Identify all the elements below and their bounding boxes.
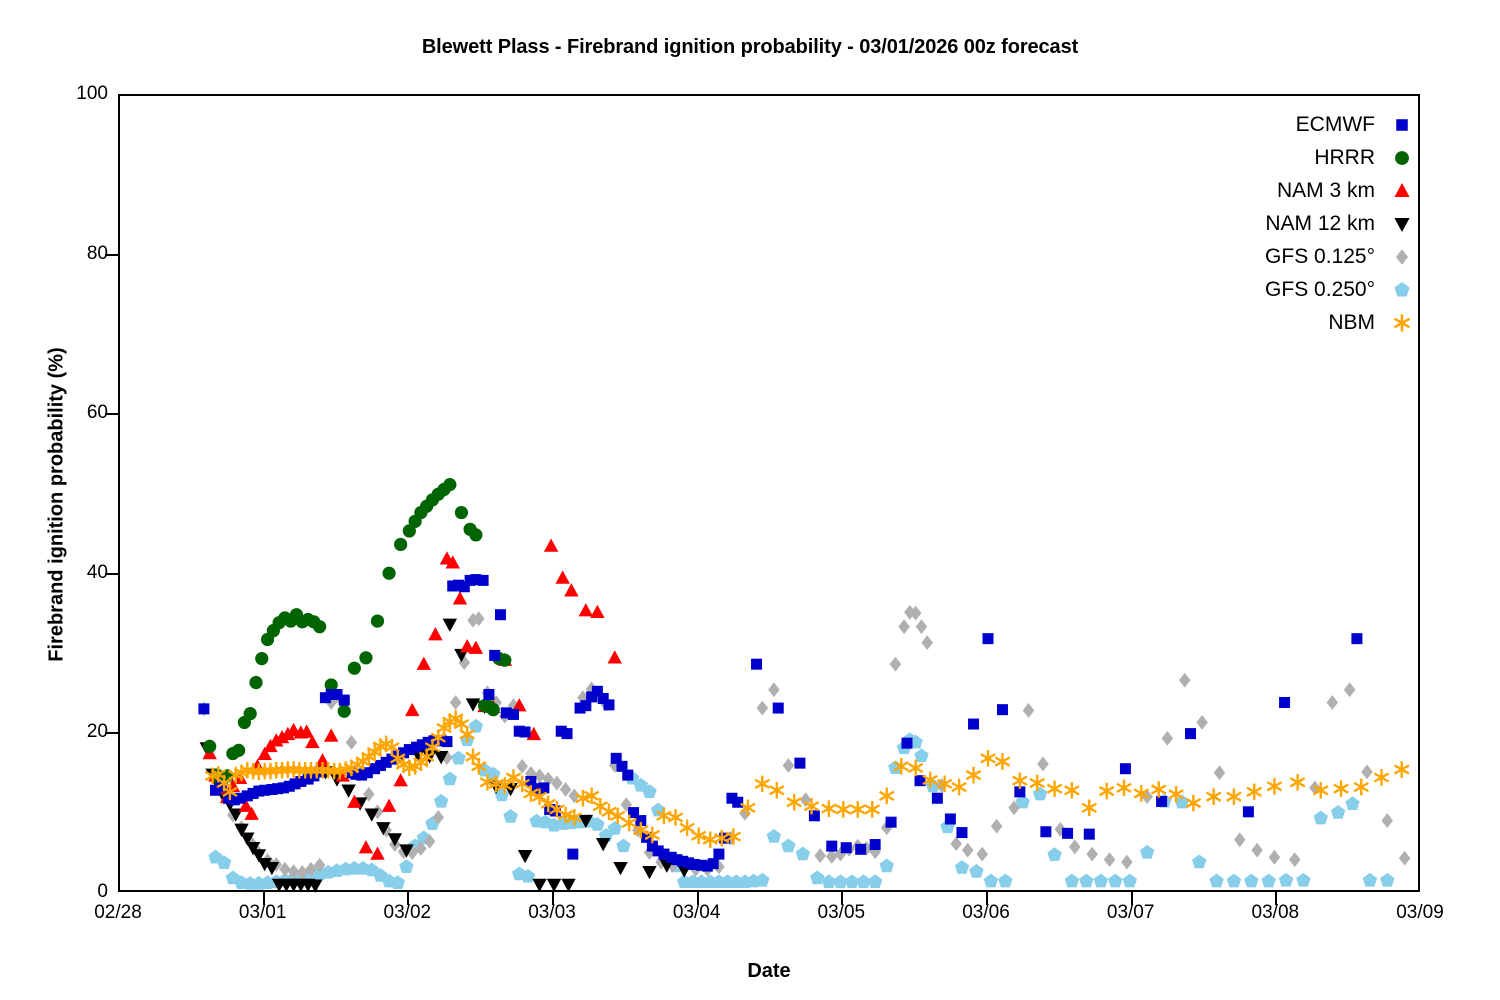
data-point	[516, 759, 528, 774]
data-point	[822, 800, 836, 816]
data-point	[1351, 633, 1362, 644]
legend-label: NAM 12 km	[1265, 212, 1389, 236]
data-point	[359, 651, 372, 664]
data-point	[814, 848, 826, 863]
data-point	[1192, 854, 1206, 868]
data-point	[417, 657, 431, 670]
y-tick-label: 20	[18, 721, 108, 743]
data-point	[1196, 715, 1208, 730]
data-point	[1065, 874, 1079, 888]
x-tick-label: 03/02	[347, 902, 467, 924]
chart-page: Blewett Plass - Firebrand ignition proba…	[0, 0, 1500, 1000]
data-point	[642, 866, 656, 879]
data-point	[956, 827, 967, 838]
legend-item-nam-12-km[interactable]: NAM 12 km	[1150, 207, 1415, 240]
data-point	[787, 794, 801, 810]
data-point	[339, 695, 350, 706]
x-tick-label: 02/28	[58, 902, 178, 924]
data-point	[1186, 795, 1200, 811]
data-point	[810, 870, 824, 884]
y-tick-label: 80	[18, 243, 108, 265]
data-point	[1185, 728, 1196, 739]
circle-marker-icon	[1389, 145, 1415, 171]
y-tick-mark	[105, 254, 118, 256]
legend-item-gfs-0-125[interactable]: GFS 0.125°	[1150, 240, 1415, 273]
data-point	[341, 785, 355, 798]
data-point	[608, 821, 622, 835]
data-point	[532, 879, 546, 892]
data-point	[1123, 874, 1137, 888]
data-point	[1179, 673, 1191, 688]
data-point	[1279, 873, 1293, 887]
data-point	[995, 753, 1009, 769]
data-point	[394, 538, 407, 551]
data-point	[1037, 757, 1049, 772]
data-point	[503, 809, 517, 823]
x-tick-label: 03/06	[926, 902, 1046, 924]
y-tick-label: 60	[18, 402, 108, 424]
data-point	[1261, 874, 1275, 888]
data-point	[1344, 682, 1356, 697]
data-point	[1033, 787, 1047, 801]
data-point	[1140, 845, 1154, 859]
data-point	[489, 650, 500, 661]
data-point	[255, 652, 268, 665]
data-point	[1290, 774, 1304, 790]
data-point	[382, 799, 396, 812]
data-point	[590, 605, 604, 618]
y-axis-label: Firebrand ignition probability (%)	[46, 225, 69, 785]
data-point	[434, 794, 448, 808]
legend-item-nam-3-km[interactable]: NAM 3 km	[1150, 174, 1415, 207]
data-point	[909, 760, 923, 776]
data-point	[708, 858, 719, 869]
data-point	[886, 817, 897, 828]
data-point	[901, 738, 912, 749]
data-point	[203, 740, 216, 753]
data-point	[324, 728, 338, 741]
data-point	[976, 847, 988, 862]
data-point	[1023, 703, 1035, 718]
data-point	[348, 662, 361, 675]
data-point	[487, 703, 500, 716]
x-tick-label: 03/09	[1360, 902, 1480, 924]
data-point	[1086, 847, 1098, 862]
data-point	[1380, 873, 1394, 887]
data-point	[968, 719, 979, 730]
data-point	[1296, 873, 1310, 887]
legend-item-nbm[interactable]: NBM	[1150, 306, 1415, 339]
data-point	[428, 627, 442, 640]
asterisk-marker-icon	[1389, 310, 1415, 336]
data-point	[1331, 805, 1345, 819]
data-point	[783, 758, 795, 773]
data-point	[945, 813, 956, 824]
data-point	[1108, 874, 1122, 888]
data-point	[371, 614, 384, 627]
data-point	[1100, 783, 1114, 799]
data-point	[1047, 847, 1061, 861]
data-point	[313, 620, 326, 633]
diamond-marker-icon	[1389, 244, 1415, 270]
data-point	[880, 858, 894, 872]
data-point	[890, 657, 902, 672]
data-point	[562, 728, 573, 739]
data-point	[1227, 874, 1241, 888]
data-point	[1247, 784, 1261, 800]
data-point	[768, 682, 780, 697]
data-point	[1361, 765, 1373, 780]
data-point	[495, 609, 506, 620]
data-point	[593, 798, 607, 814]
data-point	[962, 843, 974, 858]
y-tick-label: 40	[18, 562, 108, 584]
data-point	[616, 839, 630, 853]
data-point	[508, 709, 519, 720]
legend-label: ECMWF	[1296, 113, 1389, 137]
x-tick-label: 03/03	[492, 902, 612, 924]
data-point	[443, 478, 456, 491]
legend-label: GFS 0.250°	[1265, 278, 1389, 302]
data-point	[1117, 780, 1131, 796]
data-point	[603, 699, 614, 710]
data-point	[757, 701, 769, 716]
y-tick-label: 0	[18, 881, 108, 903]
data-point	[469, 528, 482, 541]
data-point	[966, 767, 980, 783]
chart-legend: ECMWFHRRRNAM 3 kmNAM 12 kmGFS 0.125°GFS …	[1150, 108, 1415, 339]
data-point	[596, 838, 610, 851]
x-tick-label: 03/04	[637, 902, 757, 924]
triangle-down-marker-icon	[1389, 211, 1415, 237]
data-point	[1269, 850, 1281, 865]
data-point	[1395, 761, 1409, 777]
data-point	[770, 782, 784, 798]
y-tick-mark	[105, 732, 118, 734]
legend-item-ecmwf[interactable]: ECMWF	[1150, 108, 1415, 141]
data-point	[713, 849, 724, 860]
data-point	[579, 603, 593, 616]
data-point	[1382, 813, 1394, 828]
data-point	[338, 705, 351, 718]
data-point	[1209, 874, 1223, 888]
data-point	[773, 703, 784, 714]
data-point	[455, 506, 468, 519]
data-point	[249, 676, 262, 689]
data-point	[998, 874, 1012, 888]
data-point	[732, 797, 743, 808]
data-point	[555, 570, 569, 583]
data-point	[1084, 829, 1095, 840]
data-point	[346, 735, 358, 750]
data-point	[1234, 832, 1246, 847]
legend-item-hrrr[interactable]: HRRR	[1150, 141, 1415, 174]
data-point	[984, 874, 998, 888]
data-point	[547, 879, 561, 892]
data-point	[382, 567, 395, 580]
square-marker-icon	[1389, 112, 1415, 138]
data-point	[751, 659, 762, 670]
data-point	[622, 770, 633, 781]
x-tick-label: 03/01	[203, 902, 323, 924]
data-point	[950, 836, 962, 851]
data-point	[796, 847, 810, 861]
data-point	[469, 719, 483, 733]
data-point	[991, 819, 1003, 834]
data-point	[1251, 843, 1263, 858]
x-tick-label: 03/08	[1215, 902, 1335, 924]
data-point	[1104, 852, 1116, 867]
y-tick-mark	[105, 413, 118, 415]
data-point	[1079, 874, 1093, 888]
data-point	[244, 707, 257, 720]
legend-label: NBM	[1328, 311, 1389, 335]
data-point	[1279, 697, 1290, 708]
data-point	[916, 619, 928, 634]
data-point	[443, 619, 457, 632]
data-point	[841, 842, 852, 853]
data-point	[453, 591, 467, 604]
data-point	[1289, 852, 1301, 867]
data-point	[478, 575, 489, 586]
data-point	[567, 849, 578, 860]
data-point	[1214, 765, 1226, 780]
data-point	[1094, 874, 1108, 888]
legend-item-gfs-0-250[interactable]: GFS 0.250°	[1150, 273, 1415, 306]
data-point	[865, 801, 879, 817]
data-point	[1047, 780, 1061, 796]
data-point	[1040, 826, 1051, 837]
data-point	[483, 689, 494, 700]
data-point	[755, 776, 769, 792]
data-point	[1162, 731, 1174, 746]
data-point	[1399, 851, 1411, 866]
data-point	[921, 635, 933, 650]
data-point	[232, 744, 245, 757]
data-point	[868, 874, 882, 888]
data-point	[1227, 788, 1241, 804]
data-point	[1121, 855, 1133, 870]
legend-label: NAM 3 km	[1277, 179, 1389, 203]
data-point	[1207, 788, 1221, 804]
data-point	[443, 771, 457, 785]
data-point	[1069, 840, 1081, 855]
data-point	[518, 850, 532, 863]
data-point	[932, 793, 943, 804]
data-point	[520, 727, 531, 738]
data-point	[851, 801, 865, 817]
data-point	[1345, 796, 1359, 810]
x-axis-label: Date	[118, 960, 1420, 983]
data-point	[1065, 782, 1079, 798]
data-point	[898, 619, 910, 634]
page-title: Blewett Plass - Firebrand ignition proba…	[0, 36, 1500, 59]
y-tick-mark	[105, 573, 118, 575]
data-point	[1374, 769, 1388, 785]
data-point	[564, 583, 578, 596]
data-point	[608, 650, 622, 663]
y-tick-label: 100	[18, 83, 108, 105]
data-point	[836, 801, 850, 817]
data-point	[870, 839, 881, 850]
data-point	[1062, 828, 1073, 839]
data-point	[826, 841, 837, 852]
data-point	[198, 703, 209, 714]
x-tick-label: 03/05	[781, 902, 901, 924]
triangle-up-marker-icon	[1389, 178, 1415, 204]
data-point	[794, 758, 805, 769]
data-point	[498, 654, 511, 667]
data-point	[767, 829, 781, 843]
x-tick-label: 03/07	[1071, 902, 1191, 924]
data-point	[1354, 779, 1368, 795]
data-point	[1243, 806, 1254, 817]
data-point	[399, 859, 413, 873]
data-point	[1334, 780, 1348, 796]
data-point	[983, 633, 994, 644]
data-point	[952, 779, 966, 795]
data-point	[359, 840, 373, 853]
data-point	[955, 860, 969, 874]
data-point	[1327, 695, 1339, 710]
data-point	[1363, 873, 1377, 887]
data-point	[1267, 778, 1281, 794]
data-point	[1082, 800, 1096, 816]
data-point	[561, 879, 575, 892]
data-point	[755, 873, 769, 887]
pentagon-marker-icon	[1389, 277, 1415, 303]
data-point	[855, 844, 866, 855]
legend-label: HRRR	[1314, 146, 1389, 170]
data-point	[393, 773, 407, 786]
data-point	[781, 839, 795, 853]
data-point	[450, 695, 462, 710]
legend-label: GFS 0.125°	[1265, 245, 1389, 269]
data-point	[997, 704, 1008, 715]
data-point	[405, 703, 419, 716]
data-point	[613, 862, 627, 875]
data-point	[1120, 763, 1131, 774]
data-point	[451, 751, 465, 765]
data-point	[1244, 874, 1258, 888]
data-point	[1314, 811, 1328, 825]
data-point	[880, 788, 894, 804]
data-point	[544, 538, 558, 551]
data-point	[981, 750, 995, 766]
data-point	[969, 864, 983, 878]
